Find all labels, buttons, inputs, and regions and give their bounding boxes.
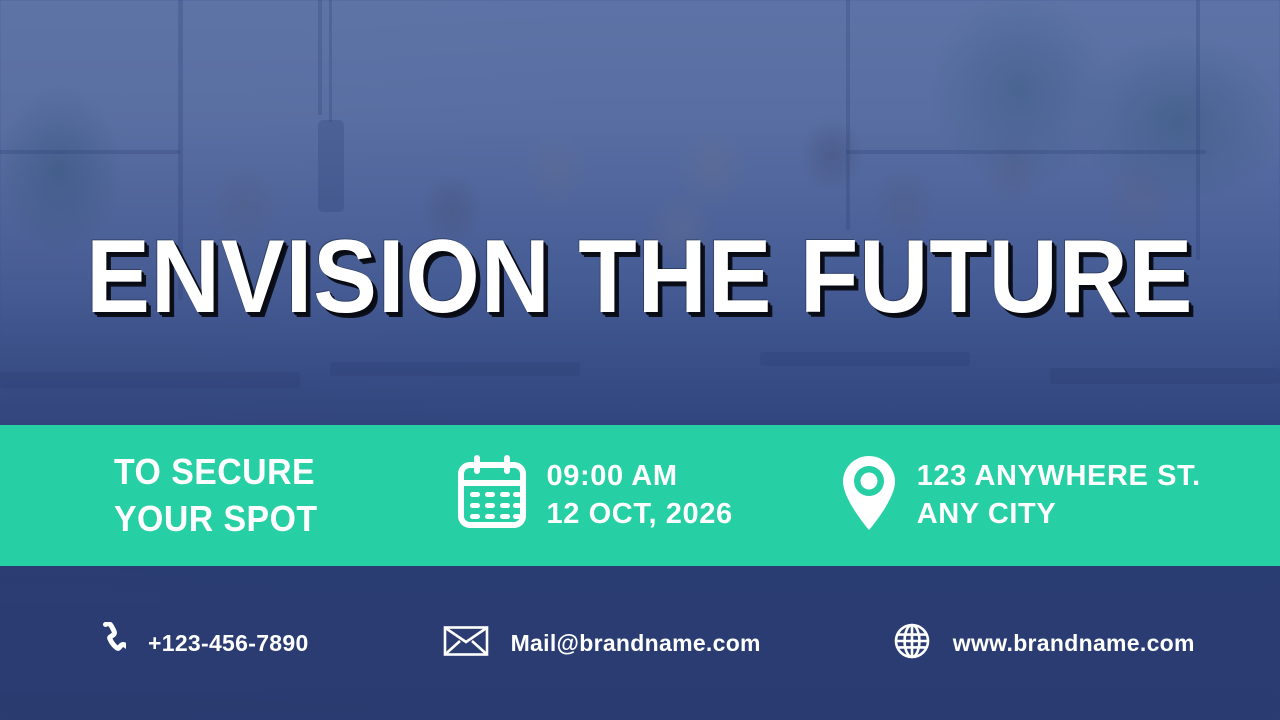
event-time: 09:00 AM [547,458,733,495]
phone-number: +123-456-7890 [148,630,309,657]
cta-line-1: TO SECURE [114,449,318,496]
contact-phone[interactable]: +123-456-7890 [96,622,309,665]
contact-footer: +123-456-7890 Mail@brandname.com [0,566,1280,720]
event-poster: ENVISION THE FUTURE TO SECURE YOUR SPOT [0,0,1280,720]
envelope-icon [443,625,489,662]
contact-email[interactable]: Mail@brandname.com [443,625,761,662]
info-band: TO SECURE YOUR SPOT [0,425,1280,566]
address-line-1: 123 ANYWHERE ST. [917,458,1201,495]
email-address: Mail@brandname.com [511,630,761,657]
website-url: www.brandname.com [953,630,1195,657]
hero-section: ENVISION THE FUTURE [0,222,1280,332]
page-title: ENVISION THE FUTURE [86,225,1193,329]
cta-line-2: YOUR SPOT [114,496,318,543]
address-line-2: ANY CITY [917,496,1201,533]
location-text: 123 ANYWHERE ST. ANY CITY [917,458,1201,532]
phone-icon [96,622,126,665]
cta-text: TO SECURE YOUR SPOT [114,449,318,543]
event-date: 12 OCT, 2026 [547,496,733,533]
schedule-group: 09:00 AM 12 OCT, 2026 [455,455,733,536]
schedule-text: 09:00 AM 12 OCT, 2026 [547,458,733,532]
location-pin-icon [839,454,899,537]
calendar-icon [455,455,529,536]
globe-icon [893,622,931,665]
contact-website[interactable]: www.brandname.com [893,622,1195,665]
location-group: 123 ANYWHERE ST. ANY CITY [839,454,1201,537]
